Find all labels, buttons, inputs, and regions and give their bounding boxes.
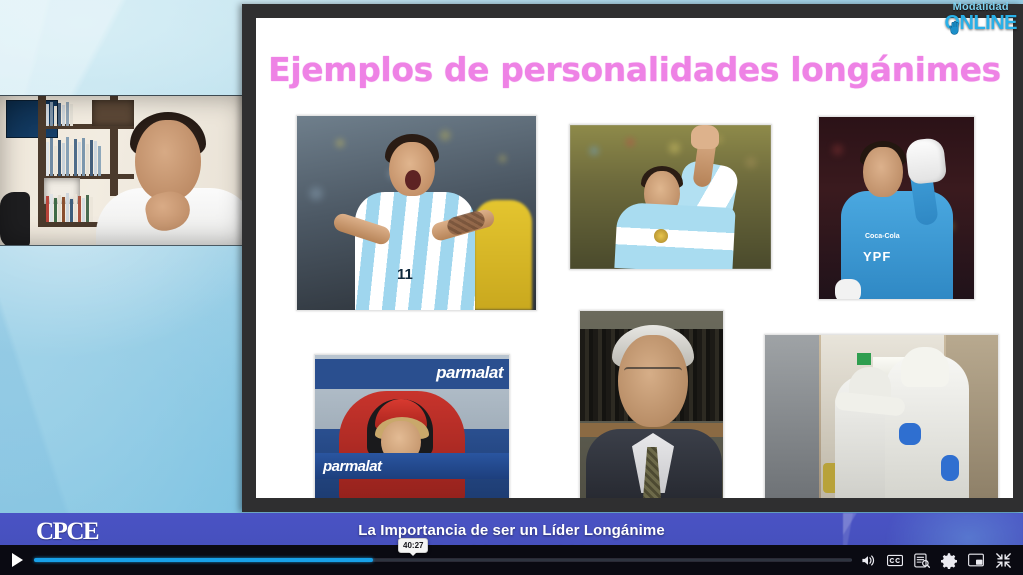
banner-title: La Importancia de ser un Líder Longánime bbox=[0, 522, 1023, 539]
progress-played bbox=[34, 558, 373, 562]
photo-glove bbox=[905, 137, 947, 185]
photo-mouth bbox=[405, 170, 421, 190]
player-right-controls bbox=[852, 552, 1023, 568]
picture-in-picture-icon[interactable] bbox=[968, 552, 984, 568]
photo-statesman-portrait bbox=[579, 310, 724, 498]
photo-medal bbox=[654, 229, 668, 243]
video-player-fullscreen: Ejemplos de personalidades longánimes 11 bbox=[0, 0, 1023, 575]
scrubber-time-tooltip: 40:27 bbox=[398, 538, 428, 553]
presentation-slide: Ejemplos de personalidades longánimes 11 bbox=[256, 18, 1013, 498]
captions-icon[interactable] bbox=[887, 552, 903, 568]
presenter-webcam[interactable] bbox=[0, 95, 247, 246]
slide-title: Ejemplos de personalidades longánimes bbox=[256, 50, 1013, 89]
photo-glove-lower bbox=[835, 279, 861, 300]
photo-head bbox=[618, 335, 688, 427]
slide-frame: Ejemplos de personalidades longánimes 11 bbox=[242, 4, 1023, 512]
volume-icon[interactable] bbox=[860, 552, 876, 568]
photo-tennis-medalist bbox=[569, 124, 772, 270]
photo-jersey bbox=[355, 192, 475, 311]
progress-scrubber[interactable] bbox=[34, 545, 852, 575]
photo-blue-glove-b bbox=[941, 455, 959, 481]
photo-f1-driver: parmalat parmalat bbox=[314, 354, 510, 498]
transcript-search-icon[interactable] bbox=[914, 552, 930, 568]
play-button[interactable] bbox=[0, 545, 34, 575]
video-player-controls bbox=[0, 545, 1023, 575]
progress-track bbox=[34, 558, 852, 562]
photo-goalkeeper: Coca-Cola YPF bbox=[818, 116, 975, 300]
webcam-vignette bbox=[0, 96, 247, 245]
photo-ppe-hood-b bbox=[901, 347, 949, 387]
photo-sponsor-bottom: parmalat bbox=[323, 458, 382, 475]
exit-fullscreen-icon[interactable] bbox=[995, 552, 1011, 568]
photo-door-left bbox=[765, 335, 819, 498]
badge-line-2: ONLINE bbox=[944, 13, 1017, 33]
photo-hand bbox=[691, 125, 719, 149]
photo-footballer-heart: 11 bbox=[296, 115, 537, 311]
photo-healthcare-ppe bbox=[764, 334, 999, 498]
play-icon bbox=[12, 553, 23, 567]
photo-glasses bbox=[624, 367, 682, 379]
photo-blue-glove-a bbox=[899, 423, 921, 445]
photo-head bbox=[863, 147, 903, 197]
modalidad-online-badge: Modalidad ONLINE bbox=[944, 2, 1017, 33]
photo-sponsor-top: parmalat bbox=[436, 363, 503, 383]
photo-flag-draped bbox=[614, 202, 735, 270]
progress-remaining bbox=[373, 559, 852, 561]
photo-exit-sign bbox=[857, 353, 871, 365]
photo-shirt-sponsor-secondary: Coca-Cola bbox=[865, 233, 900, 240]
photo-shirt-sponsor: YPF bbox=[863, 249, 891, 264]
photo-jersey-number: 11 bbox=[397, 266, 413, 283]
settings-gear-icon[interactable] bbox=[941, 552, 957, 568]
hand-cursor-icon bbox=[948, 20, 961, 36]
